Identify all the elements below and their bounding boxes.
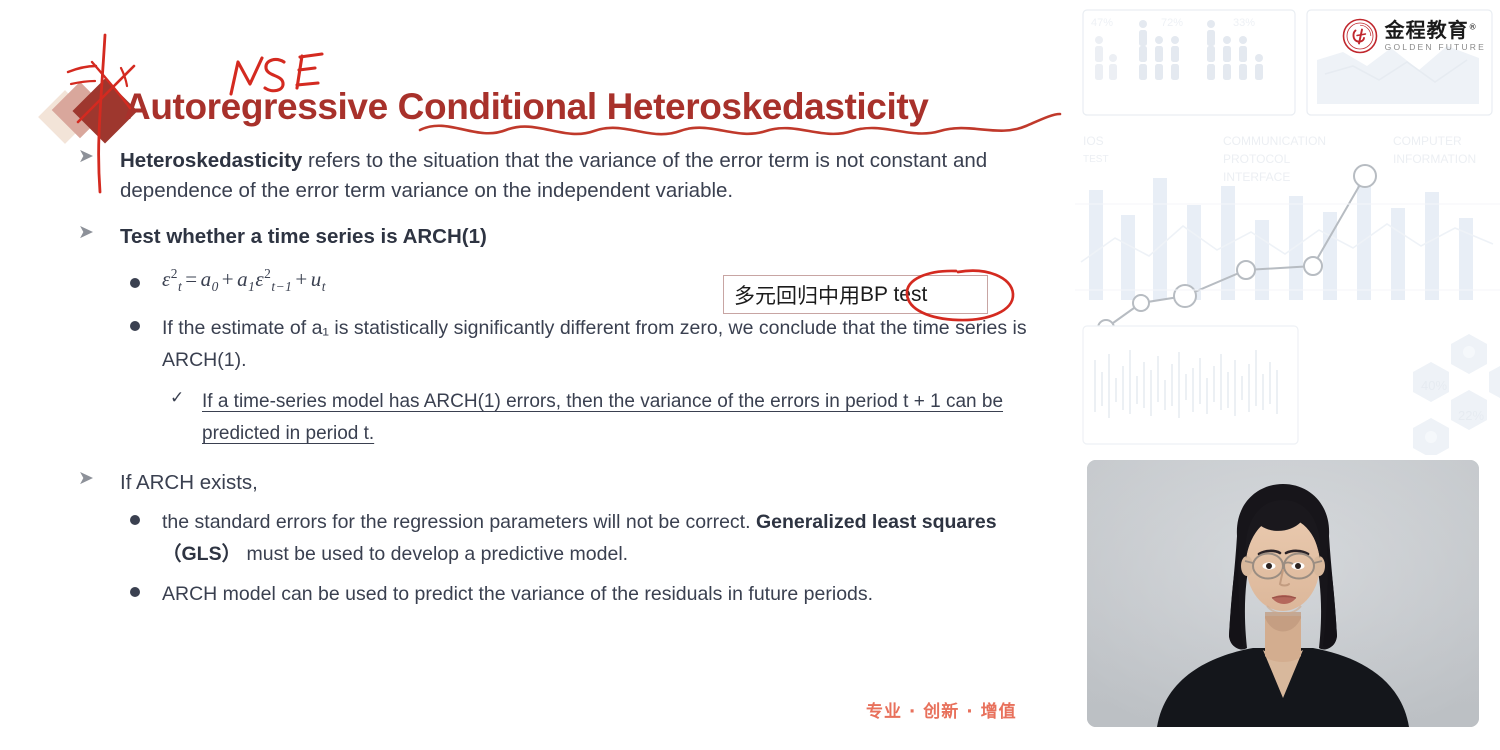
bullet-bold-lead: Heteroskedasticity bbox=[120, 149, 302, 172]
title-wavy-underline bbox=[418, 112, 1066, 144]
arrow-bullet-icon: ➤ bbox=[78, 223, 94, 242]
svg-text:47%: 47% bbox=[1091, 17, 1113, 29]
arrow-bullet-icon: ➤ bbox=[78, 469, 94, 488]
presenter-video-feed[interactable] bbox=[1087, 460, 1479, 727]
svg-text:TEST: TEST bbox=[1083, 154, 1109, 165]
seal-icon bbox=[1342, 18, 1378, 54]
checkmark-bullet-icon: ✓ bbox=[170, 388, 184, 408]
bullet-if-arch-exists: ➤ If ARCH exists, bbox=[78, 468, 1038, 498]
dot-bullet-icon bbox=[130, 587, 140, 597]
annotation-cn-text: 多元回归中用 bbox=[734, 280, 860, 310]
arrow-bullet-icon: ➤ bbox=[78, 147, 94, 166]
svg-text:COMMUNICATION: COMMUNICATION bbox=[1223, 134, 1326, 148]
svg-text:PROTOCOL: PROTOCOL bbox=[1223, 152, 1290, 166]
bullet-test-arch: ➤ Test whether a time series is ARCH(1) bbox=[78, 222, 1038, 252]
brand-text: 金程教育® GOLDEN FUTURE bbox=[1385, 20, 1486, 52]
bullet-bold-lead: Test whether a time series is ARCH(1) bbox=[120, 225, 487, 248]
dot-bullet-icon bbox=[130, 278, 140, 288]
svg-text:INFORMATION: INFORMATION bbox=[1393, 152, 1476, 166]
bullet-text: If ARCH exists, bbox=[120, 468, 1038, 498]
slide-body: ➤ Heteroskedasticity refers to the situa… bbox=[78, 146, 1038, 610]
bullet-text-after: must be used to develop a predictive mod… bbox=[241, 543, 628, 565]
bullet-text: ARCH model can be used to predict the va… bbox=[162, 578, 1038, 610]
bp-circle-annotation bbox=[900, 266, 1020, 324]
bullet-heteroskedasticity: ➤ Heteroskedasticity refers to the situa… bbox=[78, 146, 1038, 205]
svg-text:22%: 22% bbox=[1458, 408, 1484, 423]
bullet-arch-predict-variance: ARCH model can be used to predict the va… bbox=[116, 578, 1038, 610]
registered-mark: ® bbox=[1469, 23, 1478, 32]
brand-logo: 金程教育® GOLDEN FUTURE bbox=[1342, 18, 1486, 54]
slide-screen: Autoregressive Conditional Heteroskedast… bbox=[0, 0, 1500, 750]
brand-name-en: GOLDEN FUTURE bbox=[1385, 43, 1486, 52]
svg-text:COMPUTER: COMPUTER bbox=[1393, 134, 1462, 148]
footer-tagline: 专业 · 创新 · 增值 bbox=[866, 697, 1017, 722]
dot-bullet-icon bbox=[130, 321, 140, 331]
brand-name-cn: 金程教育 bbox=[1385, 18, 1469, 42]
svg-text:72%: 72% bbox=[1161, 17, 1183, 29]
svg-text:INTERFACE: INTERFACE bbox=[1223, 170, 1290, 184]
arch-equation: ε2t=a0+a1ε2t−1+ut bbox=[162, 267, 326, 291]
presenter-image bbox=[1087, 460, 1479, 727]
svg-text:33%: 33% bbox=[1233, 17, 1255, 29]
svg-text:IOS: IOS bbox=[1083, 134, 1104, 148]
bullet-text-before: the standard errors for the regression p… bbox=[162, 511, 756, 533]
infographic-background: 47% 72% 33% IOS TEST COMMUNICATION PROTO… bbox=[1075, 0, 1500, 455]
bullet-arch-variance-note: ✓ If a time-series model has ARCH(1) err… bbox=[162, 386, 1038, 450]
svg-text:40%: 40% bbox=[1421, 378, 1447, 393]
dot-bullet-icon bbox=[130, 515, 140, 525]
bullet-standard-errors-gls: the standard errors for the regression p… bbox=[116, 506, 1038, 570]
presentation-slide: Autoregressive Conditional Heteroskedast… bbox=[0, 0, 1075, 750]
bullet-text: If a time-series model has ARCH(1) error… bbox=[202, 386, 1038, 450]
